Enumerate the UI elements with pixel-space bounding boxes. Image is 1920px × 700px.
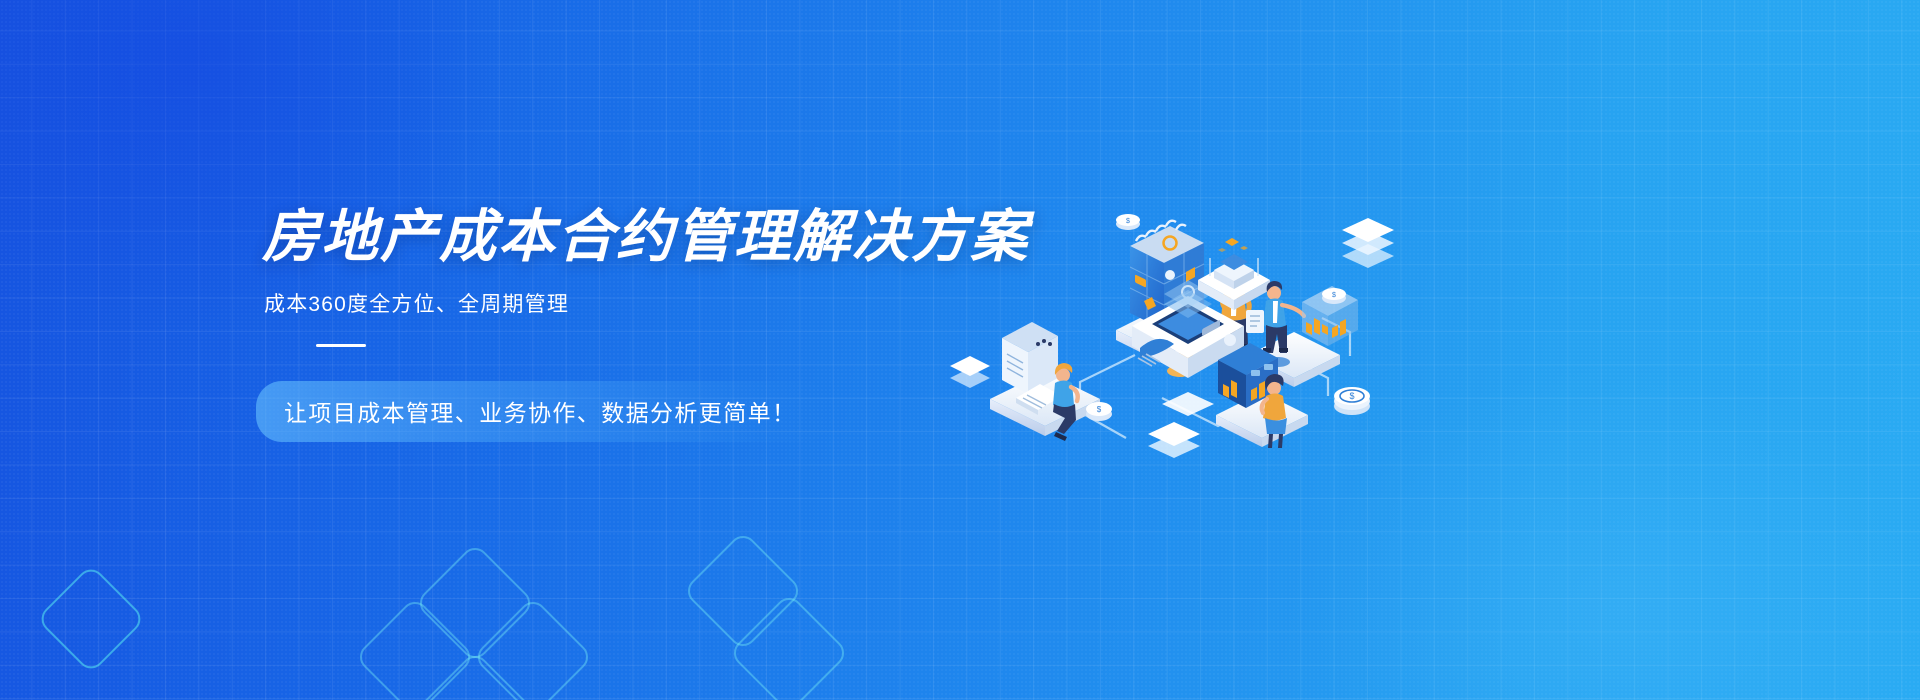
svg-text:$: $ [1126,218,1130,225]
svg-text:$: $ [1097,405,1102,414]
isometric-cost-management-illustration: $ $ $ $ [930,150,1400,450]
page-subtitle: 成本360度全方位、全周期管理 [264,288,1022,318]
diamond-left [36,564,146,674]
upload-particles [1218,238,1248,252]
layer-stack-right [1342,218,1394,268]
diamond-cluster-left [354,596,476,700]
banner-root: 房地产成本合约管理解决方案 成本360度全方位、全周期管理 让项目成本管理、业务… [0,0,1920,700]
cloud-upload-pedestal [1198,238,1270,310]
tagline-text: 让项目成本管理、业务协作、数据分析更简单！ [284,400,796,426]
title-divider [316,344,366,347]
diamond-right-lower [728,592,850,700]
chart-board-platform [1216,392,1308,447]
bottom-right-platform [1162,392,1214,416]
svg-text:$: $ [1332,292,1336,299]
layer-stack-left [950,356,990,388]
layer-stack-bottom [1148,422,1200,458]
dollar-coin-small-top: $ [1116,214,1140,230]
page-title: 房地产成本合约管理解决方案 [262,206,1022,270]
diamond-cluster-top [414,542,536,664]
dollar-coin-mid: $ [1322,288,1346,304]
banner-copy: 房地产成本合约管理解决方案 成本360度全方位、全周期管理 让项目成本管理、业务… [262,206,1022,442]
diamond-cluster-right [472,596,594,700]
tagline-pill: 让项目成本管理、业务协作、数据分析更简单！ [256,381,830,442]
dollar-coin-small-left: $ [1086,402,1112,421]
diamond-right [682,530,804,652]
svg-text:$: $ [1349,391,1354,401]
dollar-coin-stack: $ [1334,387,1370,415]
diamond-cluster-bottom [414,650,536,700]
document-icon-small [1246,310,1264,333]
